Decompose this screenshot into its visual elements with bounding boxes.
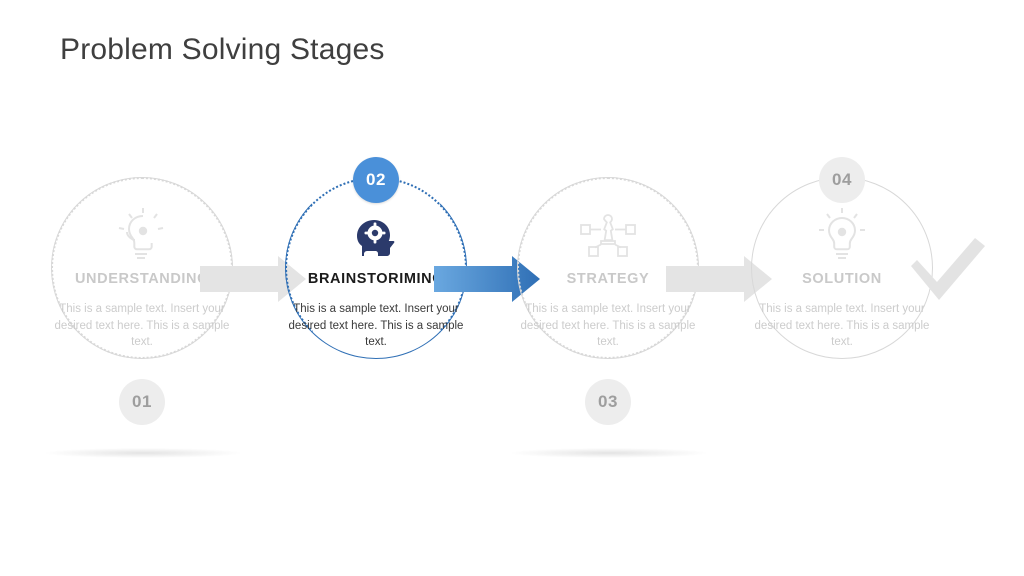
stage-number-badge: 03 xyxy=(585,379,631,425)
chess-strategy-icon xyxy=(573,205,643,263)
stage-body-text: This is a sample text. Insert your desir… xyxy=(754,301,930,351)
lightbulb-head-icon xyxy=(107,205,177,263)
stage-number-badge-active: 02 xyxy=(353,157,399,203)
stage-shadow xyxy=(45,448,241,458)
stage-shadow xyxy=(511,448,707,458)
stage-body-text: This is a sample text. Insert your desir… xyxy=(288,301,464,351)
stage-number-badge: 04 xyxy=(819,157,865,203)
lightbulb-icon xyxy=(807,205,877,263)
checkmark-icon xyxy=(905,238,989,315)
stage-number-badge: 01 xyxy=(119,379,165,425)
slide-canvas: Problem Solving Stages UNDERS xyxy=(0,0,1024,576)
page-title: Problem Solving Stages xyxy=(60,33,385,67)
stage-body-text: This is a sample text. Insert your desir… xyxy=(520,301,696,351)
stage-body-text: This is a sample text. Insert your desir… xyxy=(54,301,230,351)
head-gear-icon xyxy=(341,205,411,263)
